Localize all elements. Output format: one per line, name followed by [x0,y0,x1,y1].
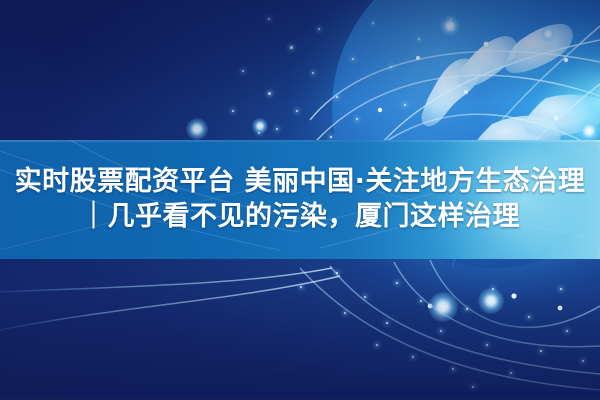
banner-image: 实时股票配资平台 美丽中国·关注地方生态治理 ｜几乎看不见的污染，厦门这样治理 [0,0,600,400]
headline-line-2: ｜几乎看不见的污染，厦门这样治理 [80,203,520,231]
headline: 实时股票配资平台 美丽中国·关注地方生态治理 ｜几乎看不见的污染，厦门这样治理 [0,140,600,259]
headline-line-1: 实时股票配资平台 美丽中国·关注地方生态治理 [15,168,586,196]
bottom-strip [0,386,600,400]
